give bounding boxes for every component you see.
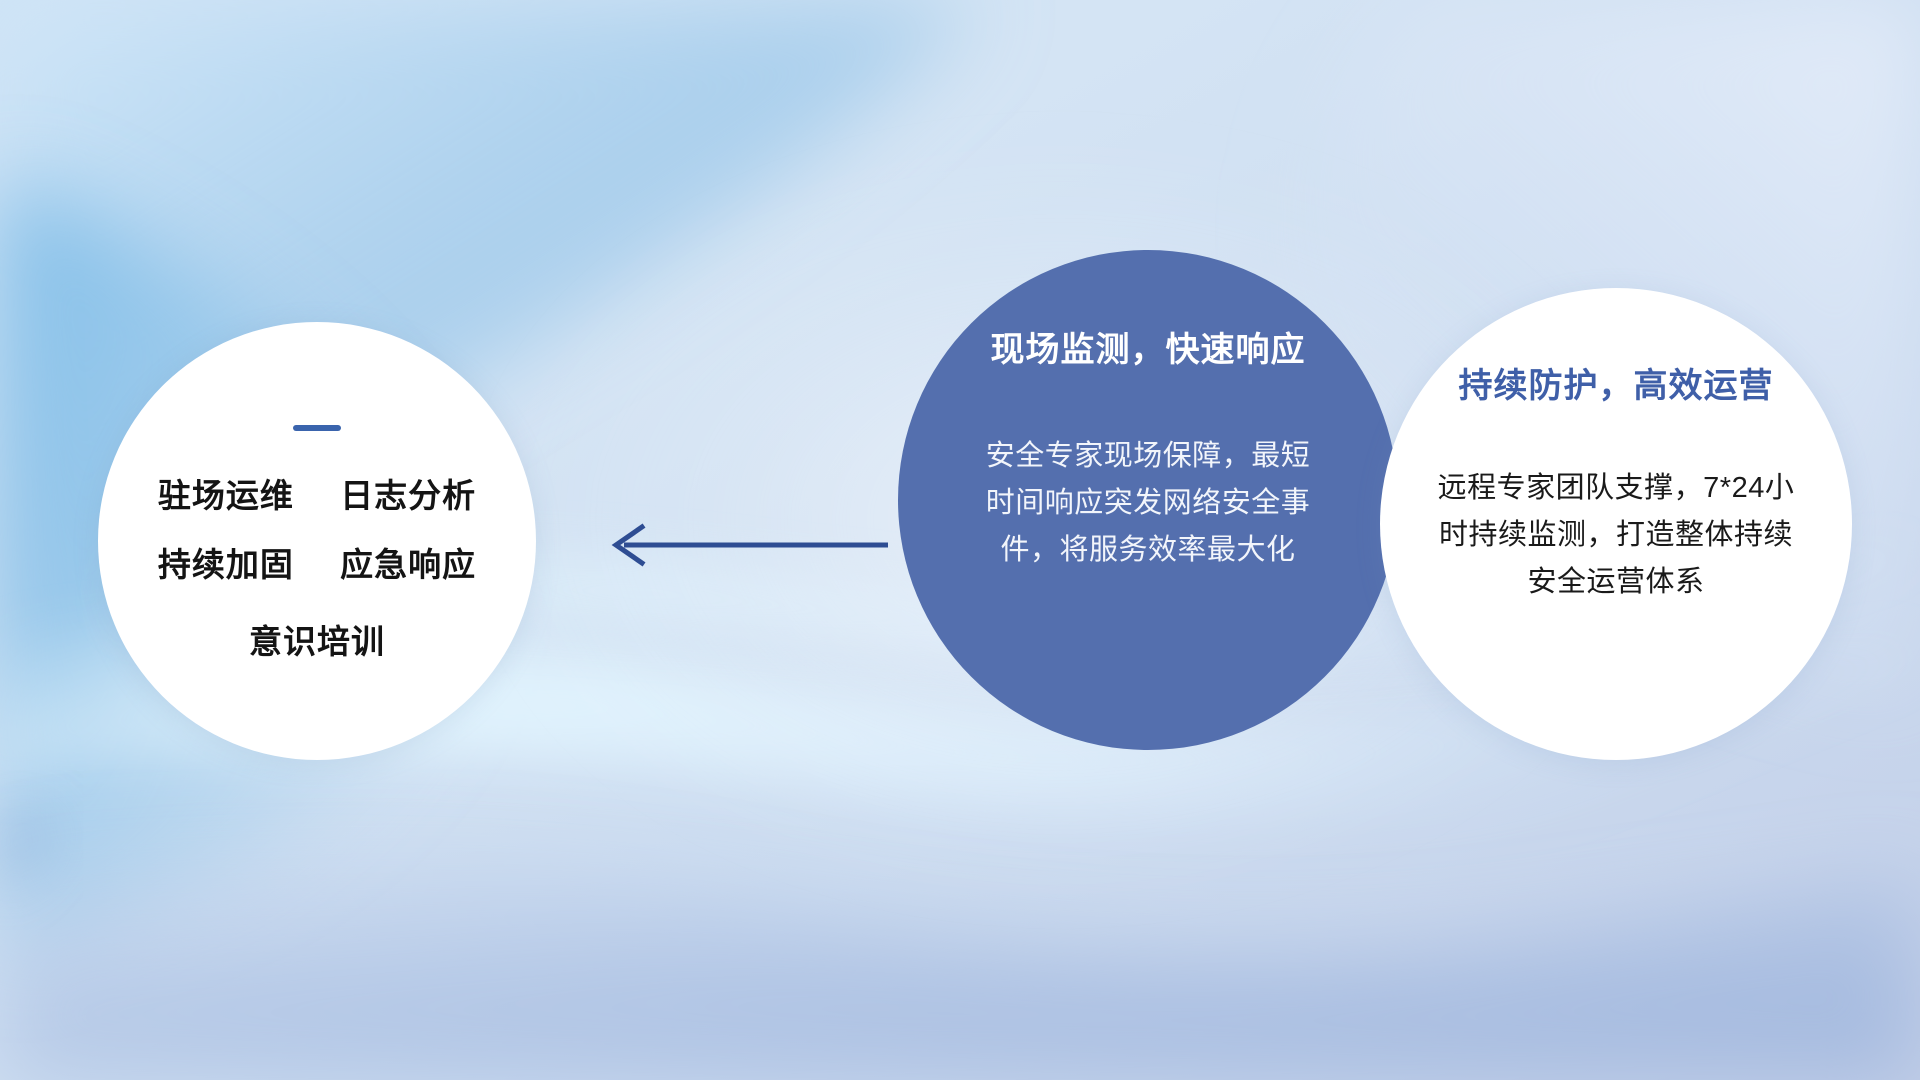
capability-label: 驻场运维 (158, 477, 294, 514)
capability-label: 持续加固 (158, 546, 294, 583)
onsite-monitoring-title: 现场监测，快速响应 (991, 322, 1306, 371)
continuous-protection-body: 远程专家团队支撑，7*24小时持续监测，打造整体持续安全运营体系 (1430, 465, 1802, 606)
diagram-stage: 驻场运维 日志分析 持续加固 应急响应 意识培训 现场监测，快速响应 安全专家现… (0, 0, 1920, 1080)
continuous-protection-circle: 持续防护，高效运营 远程专家团队支撑，7*24小时持续监测，打造整体持续安全运营… (1380, 288, 1852, 760)
left-arrow-icon (590, 515, 890, 575)
dash-divider-icon (293, 425, 341, 431)
onsite-monitoring-body: 安全专家现场保障，最短时间响应突发网络安全事件，将服务效率最大化 (983, 433, 1313, 574)
capabilities-circle: 驻场运维 日志分析 持续加固 应急响应 意识培训 (98, 322, 536, 760)
capability-label: 应急响应 (340, 546, 476, 583)
capability-row: 驻场运维 日志分析 (158, 479, 476, 512)
capability-row: 持续加固 应急响应 (158, 548, 476, 581)
capability-row: 意识培训 (249, 625, 385, 658)
onsite-monitoring-circle: 现场监测，快速响应 安全专家现场保障，最短时间响应突发网络安全事件，将服务效率最… (898, 250, 1398, 750)
capability-label: 意识培训 (249, 623, 385, 660)
capability-label: 日志分析 (340, 477, 476, 514)
continuous-protection-title: 持续防护，高效运营 (1459, 358, 1774, 407)
